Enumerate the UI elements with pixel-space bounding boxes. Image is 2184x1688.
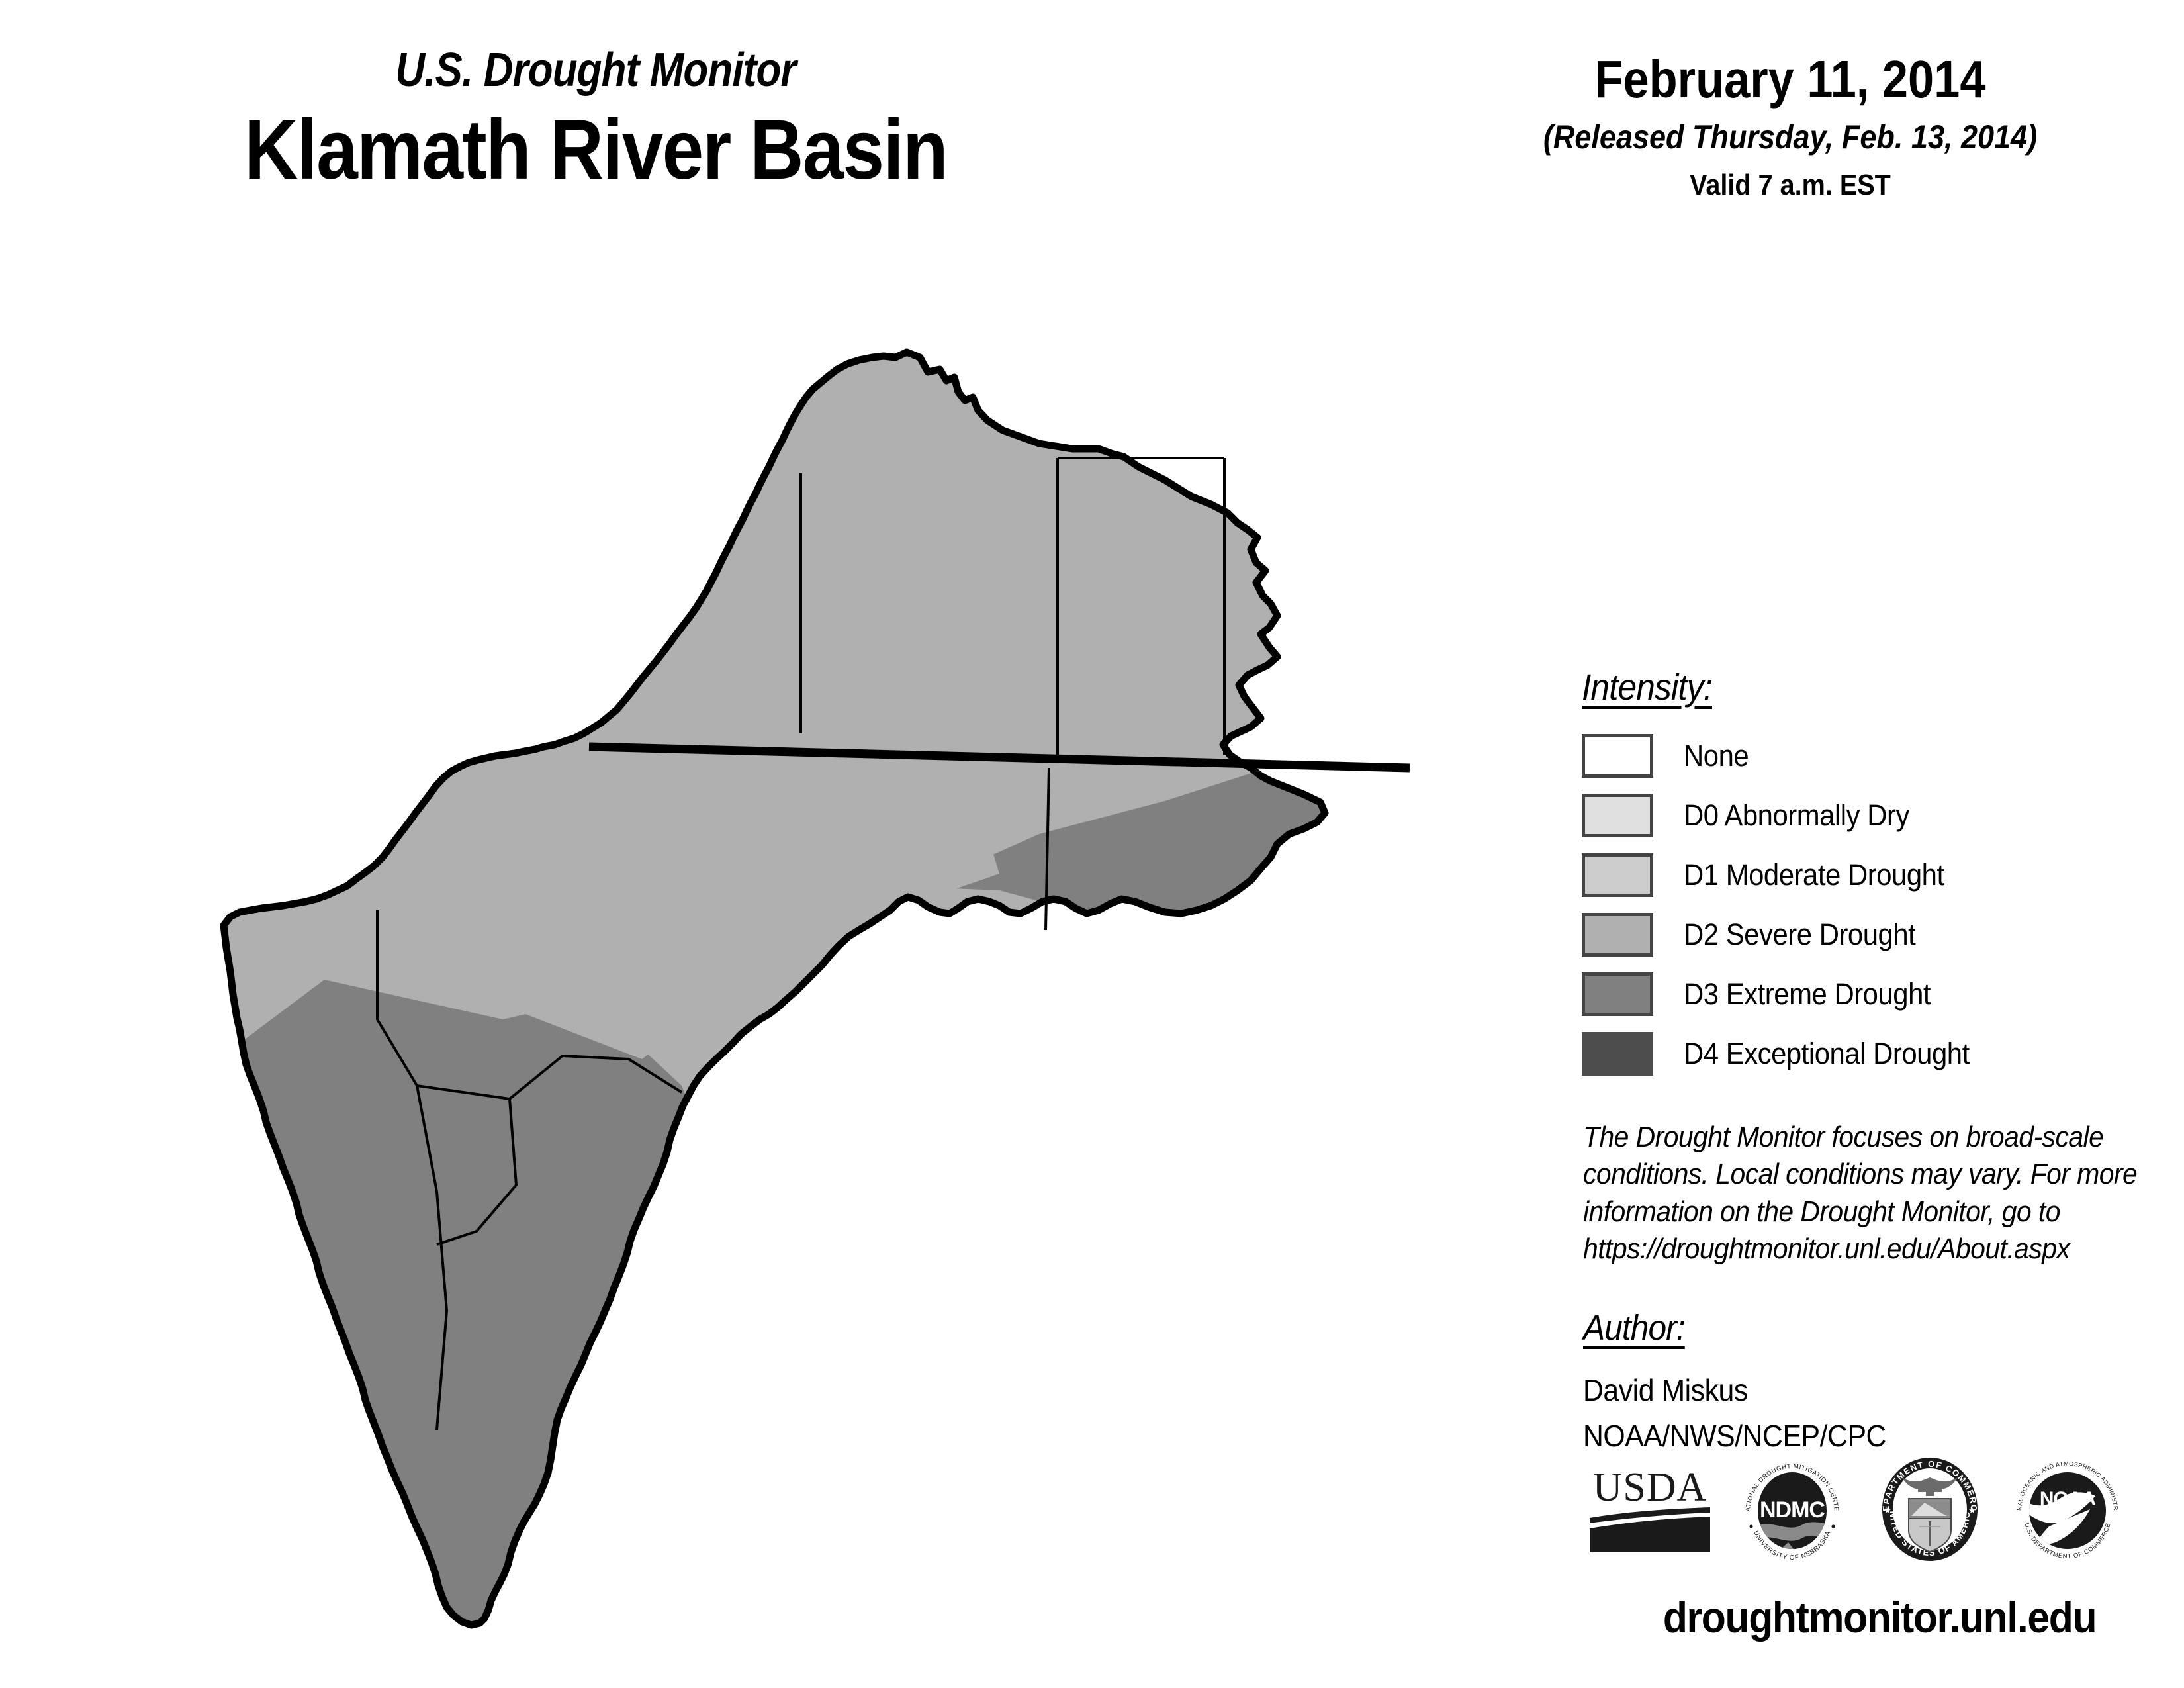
legend-item-d0[interactable]: D0 Abnormally Dry [1582,790,2164,841]
author-block: Author: David Miskus NOAA/NWS/NCEP/CPC [1583,1307,2179,1456]
region-d3-south [218,980,721,1648]
map-svg [218,331,1410,1648]
author-heading: Author: [1583,1307,1685,1348]
legend-item-d4[interactable]: D4 Exceptional Drought [1582,1029,2164,1079]
disclaimer-line-3: information on the Drought Monitor, go t… [1583,1194,2137,1231]
footer-url[interactable]: droughtmonitor.unl.edu [1606,1592,2154,1642]
disclaimer-line-2: conditions. Local conditions may vary. F… [1583,1156,2137,1193]
valid-time: Valid 7 a.m. EST [1490,171,2091,200]
author-name: David Miskus [1583,1371,2137,1410]
legend-swatch-d2 [1582,913,1653,957]
legend-label-d2: D2 Severe Drought [1684,917,1915,952]
svg-text:★: ★ [1968,1505,1976,1515]
legend-swatch-d0 [1582,794,1653,837]
svg-text:USDA: USDA [1593,1465,1707,1510]
legend-swatch-d4 [1582,1032,1653,1076]
svg-text:★: ★ [1884,1505,1891,1515]
drought-map[interactable] [218,331,1410,1648]
noaa-logo: NOAA NATIONAL OCEANIC AND ATMOSPHERIC AD… [2011,1452,2124,1566]
legend-swatch-d1 [1582,853,1653,897]
disclaimer-text: The Drought Monitor focuses on broad-sca… [1583,1119,2179,1268]
released-date: (Released Thursday, Feb. 13, 2014) [1490,120,2091,154]
legend-item-d2[interactable]: D2 Severe Drought [1582,910,2164,960]
legend-heading: Intensity: [1582,665,1712,708]
legend-label-d0: D0 Abnormally Dry [1684,798,1909,833]
svg-text:NDMC: NDMC [1760,1497,1825,1523]
map-fill-layer [218,331,1410,1648]
drought-monitor-supertitle: U.S. Drought Monitor [83,46,1108,94]
legend-label-d3: D3 Extreme Drought [1684,977,1931,1011]
header-right: February 11, 2014 (Released Thursday, Fe… [1456,53,2124,200]
logo-row: USDA NDMC NATIONAL DROUGHT MITIGATION CE… [1588,1446,2171,1572]
disclaimer-line-1: The Drought Monitor focuses on broad-sca… [1583,1119,2137,1156]
disclaimer-url[interactable]: https://droughtmonitor.unl.edu/About.asp… [1583,1231,2137,1268]
svg-text:NOAA: NOAA [2040,1488,2096,1510]
valid-date: February 11, 2014 [1496,53,2085,106]
page-title: Klamath River Basin [71,106,1120,195]
doc-seal-logo: DEPARTMENT OF COMMERCE UNITED STATES OF … [1873,1452,1987,1566]
legend-rows: None D0 Abnormally Dry D1 Moderate Droug… [1582,731,2164,1079]
legend-swatch-d3 [1582,972,1653,1016]
legend-swatch-none [1582,734,1653,778]
header-left: U.S. Drought Monitor Klamath River Basin [0,46,1191,195]
legend-item-none[interactable]: None [1582,731,2164,781]
legend-label-none: None [1684,739,1749,773]
legend: Intensity: None D0 Abnormally Dry D1 Mod… [1582,665,2164,1088]
usda-logo: USDA [1588,1460,1711,1559]
legend-label-d4: D4 Exceptional Drought [1684,1037,1970,1071]
legend-item-d1[interactable]: D1 Moderate Drought [1582,850,2164,900]
legend-item-d3[interactable]: D3 Extreme Drought [1582,969,2164,1019]
legend-label-d1: D1 Moderate Drought [1684,858,1944,892]
ndmc-logo: NDMC NATIONAL DROUGHT MITIGATION CENTER … [1735,1452,1849,1566]
